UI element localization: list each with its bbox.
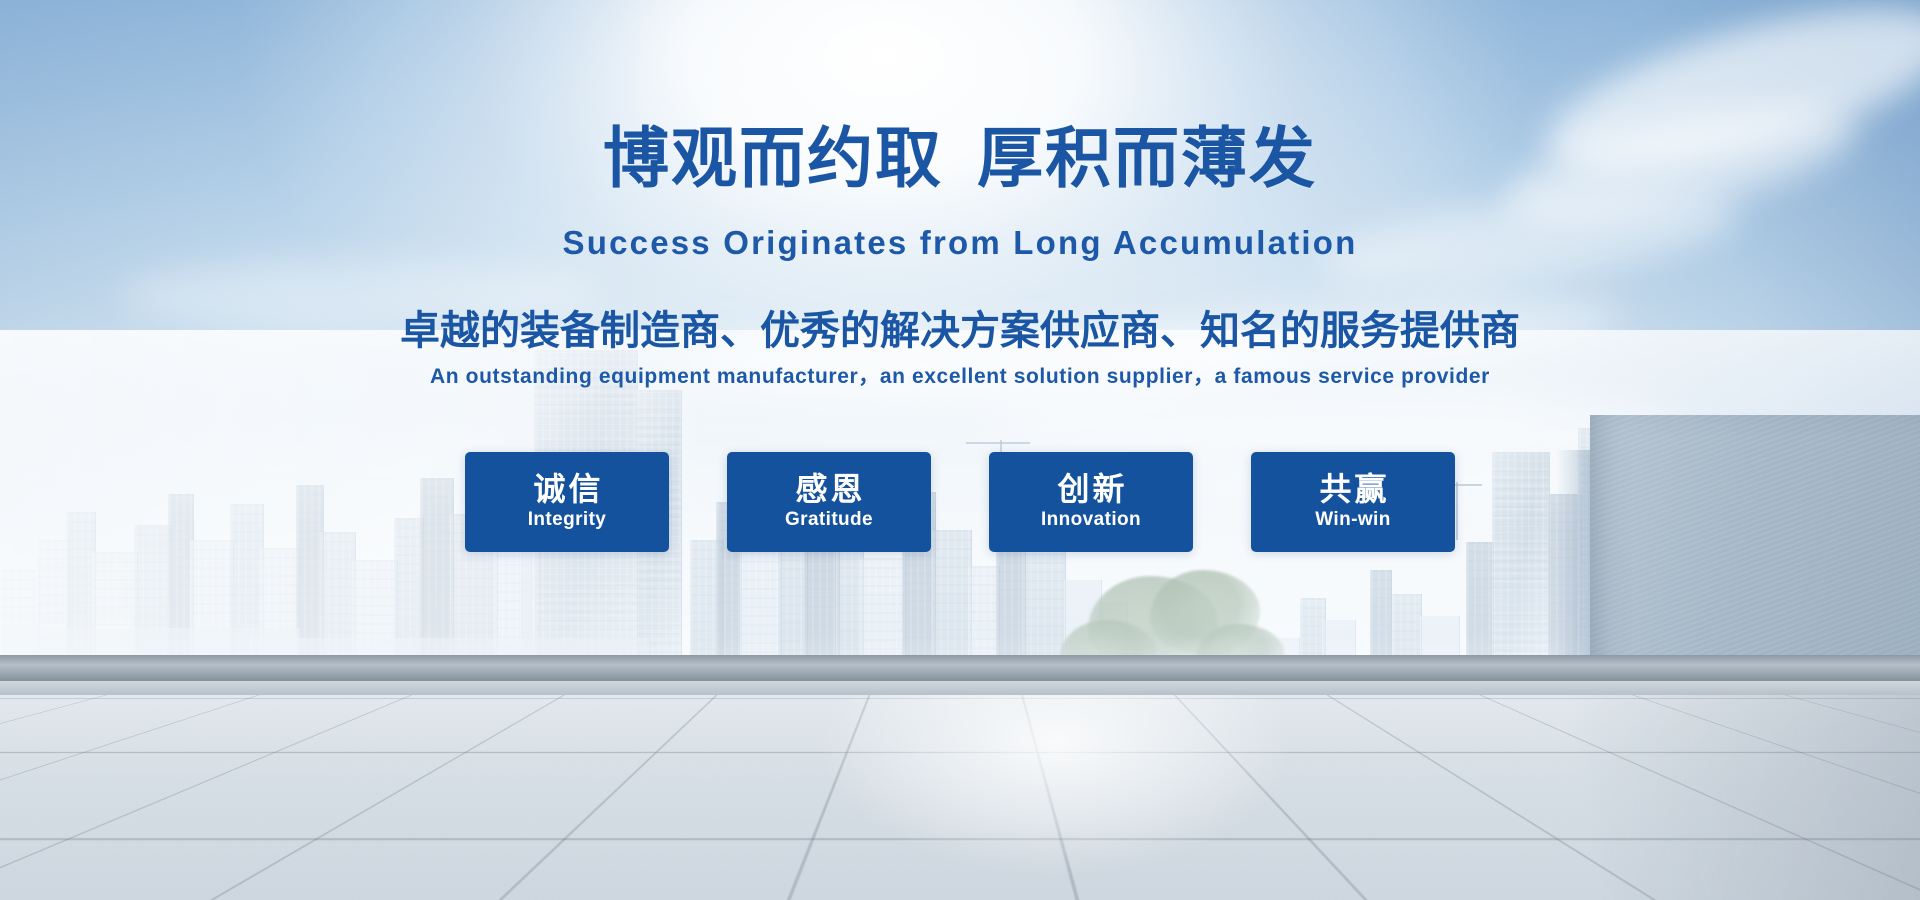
subtitle-english: An outstanding equipment manufacturer，an…: [0, 366, 1920, 387]
value-card-label-en: Gratitude: [785, 509, 873, 532]
value-cards: 诚信 Integrity 感恩 Gratitude 创新 Innovation …: [0, 452, 1920, 552]
value-card-label-en: Innovation: [1041, 509, 1141, 532]
value-card-label-en: Integrity: [528, 509, 607, 532]
value-card-label-cn: 创新: [1054, 472, 1127, 507]
hero-banner: 博观而约取厚积而薄发 Success Originates from Long …: [0, 0, 1920, 900]
value-card-label-cn: 共赢: [1316, 472, 1389, 507]
headline-chinese-part1: 博观而约取: [603, 120, 943, 197]
value-card-label-en: Win-win: [1315, 509, 1390, 532]
headline-chinese: 博观而约取厚积而薄发: [0, 126, 1920, 192]
value-card-innovation[interactable]: 创新 Innovation: [989, 452, 1193, 552]
headline-english: Success Originates from Long Accumulatio…: [0, 226, 1920, 259]
value-card-label-cn: 感恩: [792, 472, 865, 507]
value-card-label-cn: 诚信: [530, 472, 603, 507]
value-card-integrity[interactable]: 诚信 Integrity: [465, 452, 669, 552]
subtitle-chinese: 卓越的装备制造商、优秀的解决方案供应商、知名的服务提供商: [0, 311, 1920, 351]
headline-chinese-part2: 厚积而薄发: [977, 120, 1317, 197]
value-card-winwin[interactable]: 共赢 Win-win: [1251, 452, 1455, 552]
value-card-gratitude[interactable]: 感恩 Gratitude: [727, 452, 931, 552]
banner-content: 博观而约取厚积而薄发 Success Originates from Long …: [0, 0, 1920, 900]
